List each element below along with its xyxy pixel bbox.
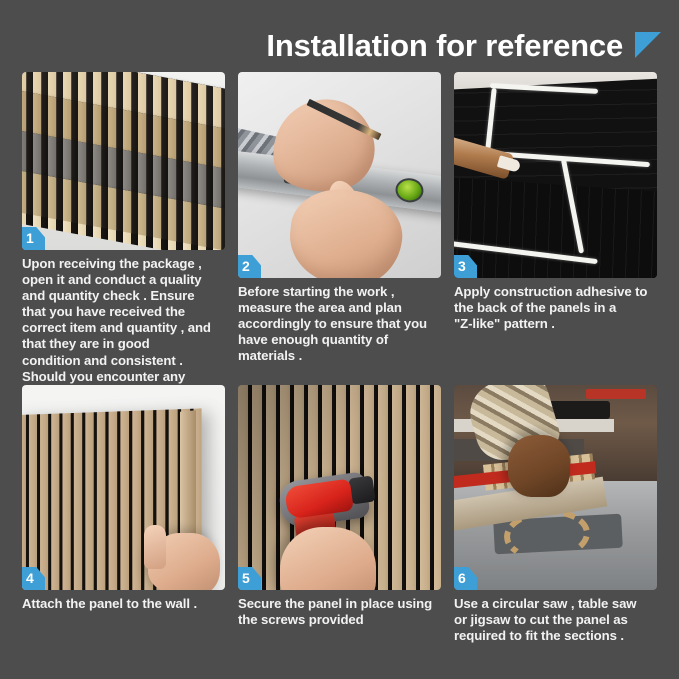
step-caption-3: Apply construction adhesive to the back … — [454, 284, 657, 332]
steps-grid: 1 Upon receiving the package , open it a… — [22, 72, 658, 657]
step-card-6: 6 Use a circular saw , table saw or jigs… — [454, 385, 657, 644]
red-tool-on-bench — [586, 389, 646, 399]
step-card-2: 2 Before starting the work , measure the… — [238, 72, 441, 364]
hand-guiding-board — [508, 435, 570, 497]
step-badge-2: 2 — [238, 255, 261, 278]
page-title: Installation for reference — [266, 30, 623, 61]
level-bubble-vial — [394, 177, 425, 204]
step-caption-2: Before starting the work , measure the a… — [238, 284, 441, 364]
step-image-5: 5 — [238, 385, 441, 590]
step-image-6: 6 — [454, 385, 657, 590]
tool-on-bench — [546, 401, 610, 419]
installation-guide-page: Installation for reference 1 Upon receiv — [0, 0, 679, 679]
step-card-1: 1 Upon receiving the package , open it a… — [22, 72, 225, 417]
finger — [144, 525, 166, 569]
page-header: Installation for reference — [0, 22, 679, 68]
black-felt-panel-back — [454, 175, 657, 278]
step-card-3: 3 Apply construction adhesive to the bac… — [454, 72, 657, 332]
step-image-1: 1 — [22, 72, 225, 250]
step-caption-4: Attach the panel to the wall . — [22, 596, 225, 612]
step-image-4: 4 — [22, 385, 225, 590]
step-card-5: 5 Secure the panel in place using the sc… — [238, 385, 441, 628]
step-image-2: 2 — [238, 72, 441, 278]
slat-panel-stack-illustration — [22, 74, 225, 250]
step-image-3: 3 — [454, 72, 657, 278]
blue-triangle-icon — [635, 32, 661, 58]
step-caption-6: Use a circular saw , table saw or jigsaw… — [454, 596, 657, 644]
step-card-4: 4 Attach the panel to the wall . — [22, 385, 225, 612]
step-caption-5: Secure the panel in place using the scre… — [238, 596, 441, 628]
